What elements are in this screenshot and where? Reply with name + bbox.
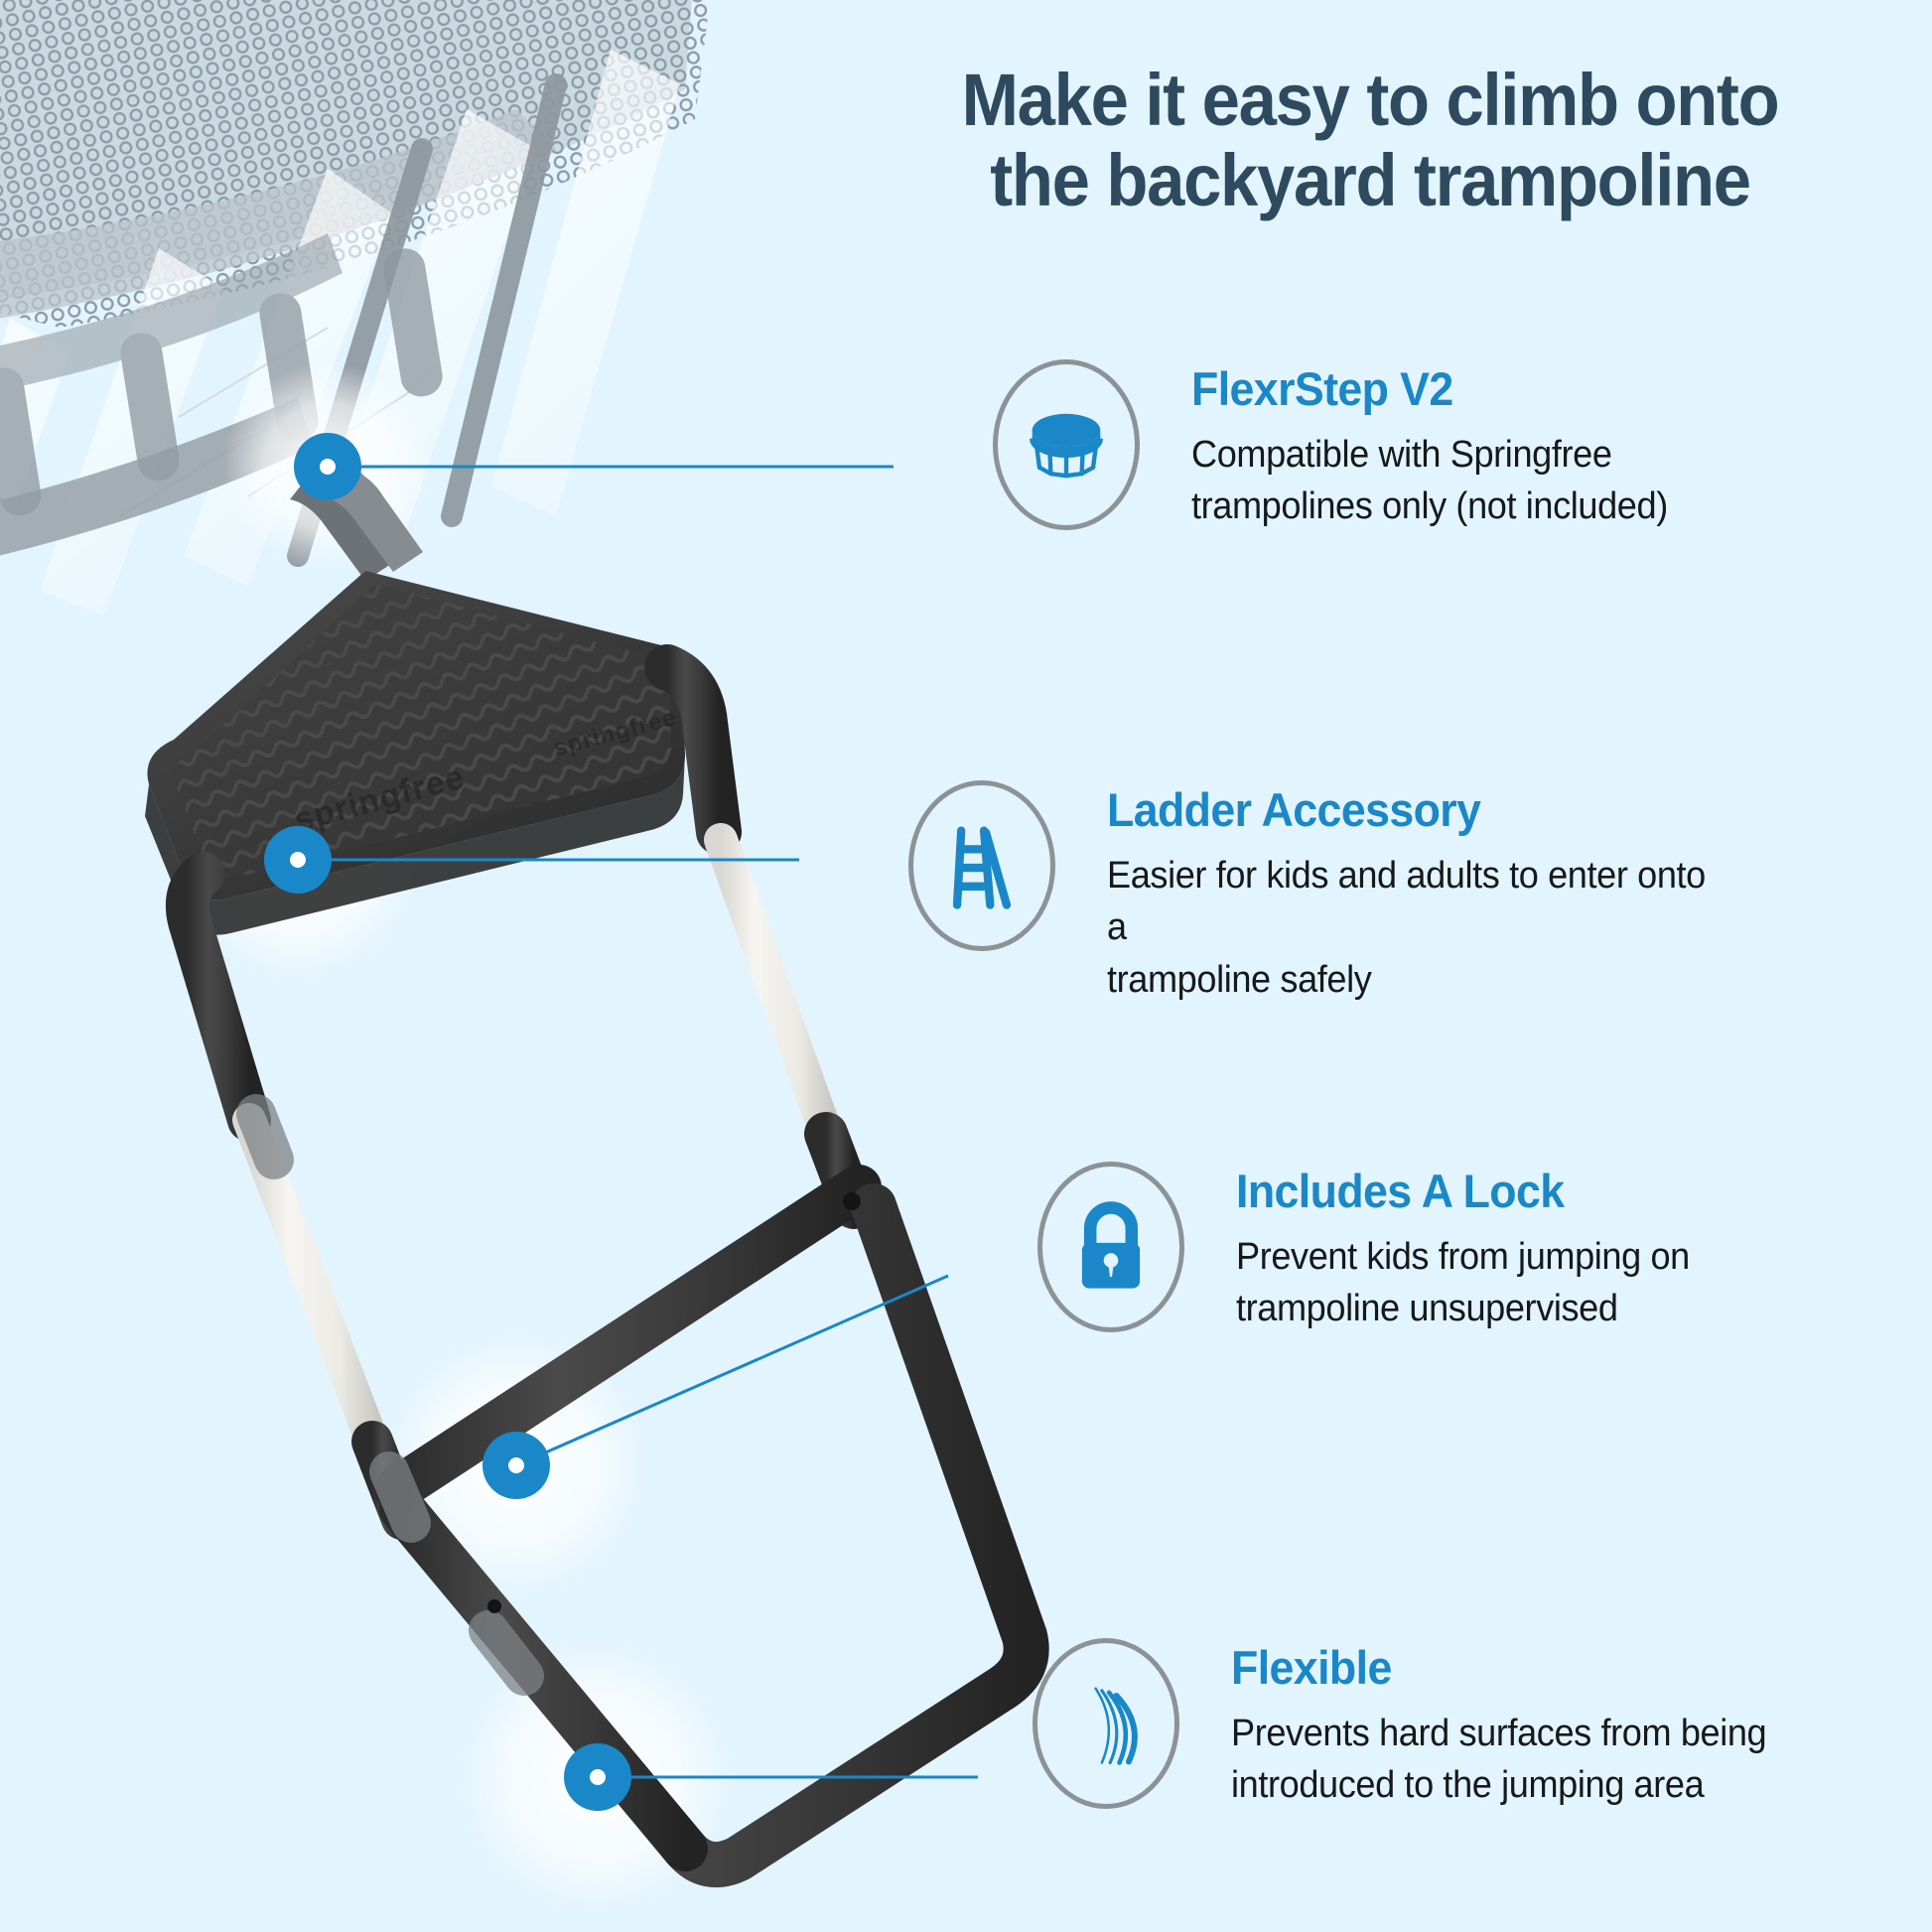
feature-text-1: FlexrStep V2 Compatible with Springfree … [1191, 359, 1693, 533]
feature-body-4-line-2: introduced to the jumping area [1231, 1759, 1766, 1811]
feature-body-3: Prevent kids from jumping on trampoline … [1236, 1231, 1690, 1335]
feature-body-1-line-2: trampolines only (not included) [1191, 481, 1668, 532]
feature-text-4: Flexible Prevents hard surfaces from bei… [1231, 1638, 1795, 1812]
page-title: Make it easy to climb onto the backyard … [872, 60, 1868, 221]
feature-flexrstep-v2: FlexrStep V2 Compatible with Springfree … [993, 359, 1693, 533]
step-platform: springfree springfree [145, 571, 685, 935]
infographic-canvas: springfree springfree [0, 0, 1932, 1932]
feature-ladder-accessory: Ladder Accessory Easier for kids and adu… [908, 780, 1742, 1006]
feature-text-3: Includes A Lock Prevent kids from jumpin… [1236, 1162, 1714, 1335]
feature-body-2-line-1: Easier for kids and adults to enter onto… [1107, 850, 1711, 954]
ladder-icon-circle [908, 780, 1055, 951]
feature-title-1: FlexrStep V2 [1191, 365, 1668, 412]
ladder-icon [930, 814, 1034, 917]
lock-icon [1059, 1195, 1163, 1299]
feature-title-2: Ladder Accessory [1107, 786, 1711, 833]
flex-arcs-icon [1054, 1672, 1158, 1775]
feature-flexible: Flexible Prevents hard surfaces from bei… [1033, 1638, 1795, 1812]
feature-body-1: Compatible with Springfree trampolines o… [1191, 429, 1668, 533]
feature-title-4: Flexible [1231, 1644, 1766, 1691]
feature-body-4-line-1: Prevents hard surfaces from being [1231, 1708, 1766, 1759]
lock-icon-circle [1037, 1162, 1184, 1332]
flex-arcs-icon-circle [1033, 1638, 1179, 1809]
feature-body-2: Easier for kids and adults to enter onto… [1107, 850, 1711, 1006]
feature-body-4: Prevents hard surfaces from being introd… [1231, 1708, 1766, 1812]
feature-title-3: Includes A Lock [1236, 1168, 1690, 1214]
feature-body-3-line-1: Prevent kids from jumping on [1236, 1231, 1690, 1283]
headline-line-2: the backyard trampoline [872, 140, 1868, 220]
feature-body-3-line-2: trampoline unsupervised [1236, 1283, 1690, 1334]
trampoline-icon [1015, 393, 1118, 496]
feature-includes-a-lock: Includes A Lock Prevent kids from jumpin… [1037, 1162, 1714, 1335]
feature-body-1-line-1: Compatible with Springfree [1191, 429, 1668, 481]
feature-text-2: Ladder Accessory Easier for kids and adu… [1107, 780, 1742, 1006]
feature-body-2-line-2: trampoline safely [1107, 954, 1711, 1006]
headline-line-1: Make it easy to climb onto [872, 60, 1868, 140]
trampoline-icon-circle [993, 359, 1140, 530]
